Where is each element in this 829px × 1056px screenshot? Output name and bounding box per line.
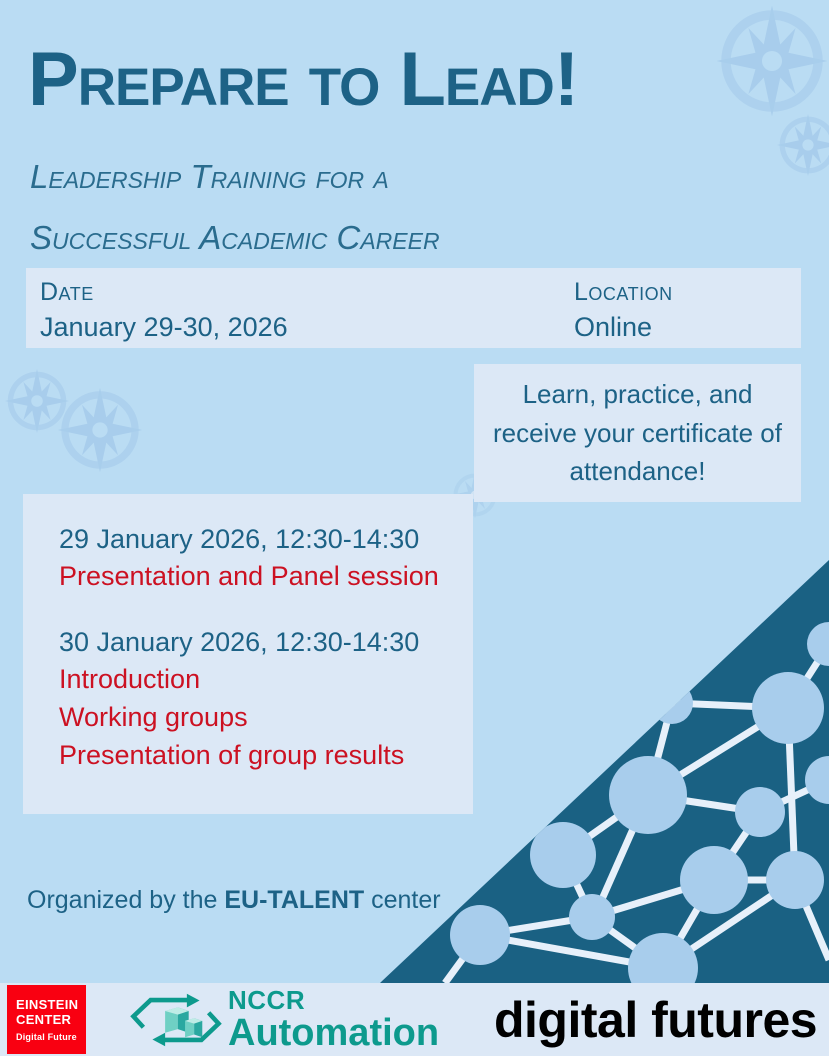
page-title: Prepare to Lead! xyxy=(28,42,578,118)
schedule-list: 29 January 2026, 12:30-14:30Presentation… xyxy=(23,494,473,775)
footer-logo-bar: EINSTEIN CENTER Digital Future xyxy=(0,983,829,1056)
schedule-item: Introduction xyxy=(59,661,473,699)
einstein-logo-line-2: CENTER xyxy=(16,1013,86,1028)
location-column: Location Online xyxy=(574,280,673,341)
organizer-name: EU-TALENT xyxy=(224,886,364,914)
organizer-line: Organized by the EU-TALENT center xyxy=(27,888,441,913)
schedule-day-heading: 30 January 2026, 12:30-14:30 xyxy=(59,623,473,661)
schedule-day-heading: 29 January 2026, 12:30-14:30 xyxy=(59,520,473,558)
organizer-prefix: Organized by the xyxy=(27,886,224,914)
subtitle-line-2: Successful Academic Career xyxy=(30,221,440,254)
schedule-panel: 29 January 2026, 12:30-14:30Presentation… xyxy=(23,494,473,814)
certificate-text: Learn, practice, and receive your certif… xyxy=(474,375,801,490)
schedule-item: Presentation of group results xyxy=(59,737,473,775)
date-column: Date January 29-30, 2026 xyxy=(40,280,288,341)
nccr-wordmark: NCCR Automation xyxy=(228,988,439,1052)
date-value: January 29-30, 2026 xyxy=(40,314,288,341)
schedule-item: Presentation and Panel session xyxy=(59,558,473,596)
poster-canvas: Prepare to Lead! Leadership Training for… xyxy=(0,0,829,1056)
location-label: Location xyxy=(574,280,673,305)
schedule-item: Working groups xyxy=(59,699,473,737)
info-band: Date January 29-30, 2026 Location Online xyxy=(26,268,801,348)
einstein-logo-line-3: Digital Future xyxy=(16,1032,86,1042)
einstein-logo-line-1: EINSTEIN xyxy=(16,998,86,1013)
organizer-suffix: center xyxy=(364,886,440,914)
schedule-spacer xyxy=(59,596,473,623)
nccr-label: NCCR xyxy=(228,988,439,1013)
einstein-center-logo: EINSTEIN CENTER Digital Future xyxy=(7,985,86,1054)
compass-rose-icon-top-large xyxy=(713,2,829,120)
subtitle-line-1: Leadership Training for a xyxy=(30,160,389,193)
certificate-callout: Learn, practice, and receive your certif… xyxy=(474,364,801,502)
compass-rose-icon-top-small xyxy=(775,112,829,178)
nccr-automation-label: Automation xyxy=(228,1014,439,1052)
compass-rose-icon-left-small xyxy=(3,367,71,435)
date-label: Date xyxy=(40,280,288,305)
nccr-automation-logo: NCCR Automation xyxy=(130,989,439,1051)
digital-futures-logo: digital futures xyxy=(494,995,817,1045)
recycle-cubes-icon xyxy=(130,991,222,1049)
location-value: Online xyxy=(574,314,673,341)
compass-rose-icon-left-large xyxy=(55,385,145,475)
